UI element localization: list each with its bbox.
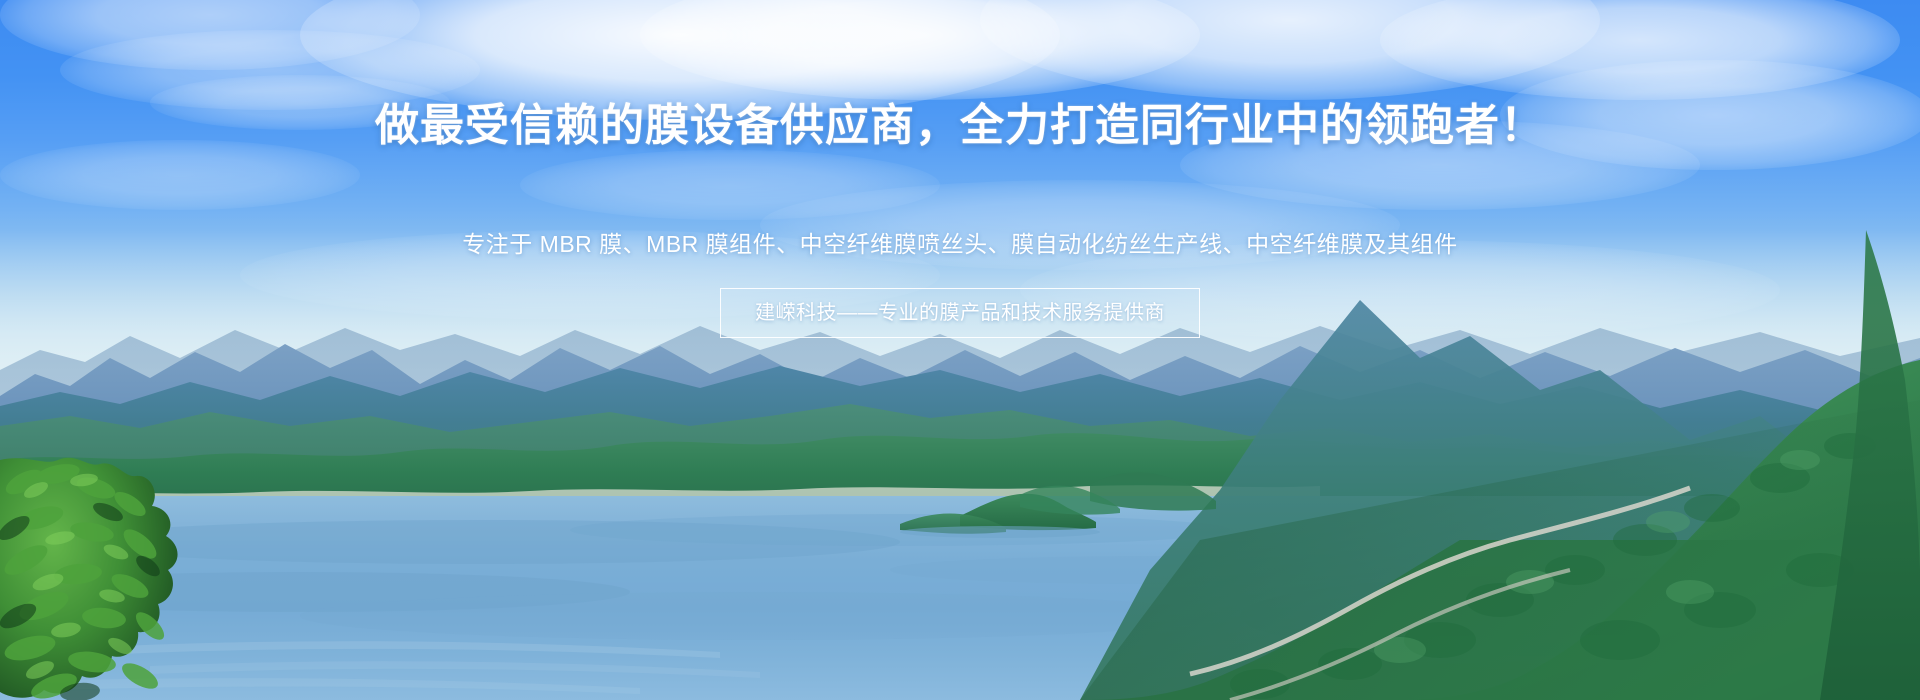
banner-subtitle: 专注于 MBR 膜、MBR 膜组件、中空纤维膜喷丝头、膜自动化纺丝生产线、中空纤… xyxy=(0,228,1920,260)
banner-text-block: 做最受信赖的膜设备供应商，全力打造同行业中的领跑者！ 专注于 MBR 膜、MBR… xyxy=(0,0,1920,700)
tagline-box-row: 建嵘科技——专业的膜产品和技术服务提供商 xyxy=(0,288,1920,338)
page-title: 做最受信赖的膜设备供应商，全力打造同行业中的领跑者！ xyxy=(0,100,1920,152)
hero-banner: 做最受信赖的膜设备供应商，全力打造同行业中的领跑者！ 专注于 MBR 膜、MBR… xyxy=(0,0,1920,700)
tagline-box: 建嵘科技——专业的膜产品和技术服务提供商 xyxy=(720,288,1200,338)
